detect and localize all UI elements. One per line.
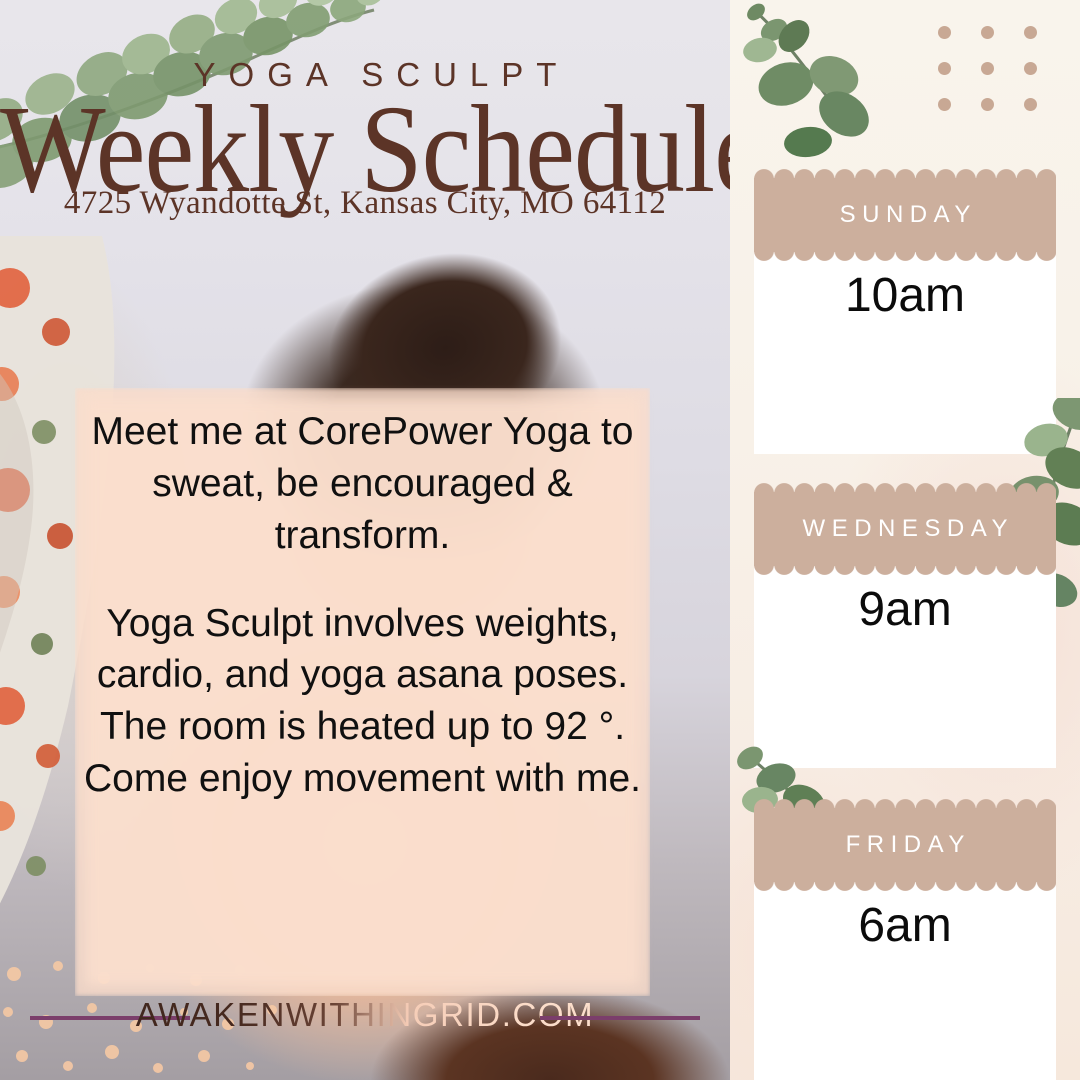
website-url[interactable]: AWAKENWITHINGRID.COM — [0, 996, 730, 1034]
card-time-value: 9am — [754, 582, 1056, 637]
card-time-value: 6am — [754, 898, 1056, 953]
scallop-edge-bottom — [754, 881, 1056, 896]
body-paragraph-1: Meet me at CorePower Yoga to sweat, be e… — [75, 406, 650, 562]
schedule-panel: SUNDAY 10am WEDNESDAY — [730, 0, 1080, 1080]
card-day-label: WEDNESDAY — [754, 492, 1056, 566]
schedule-card[interactable]: FRIDAY 6am — [754, 808, 1056, 1080]
card-body: 9am — [754, 566, 1056, 768]
studio-address: 4725 Wyandotte St, Kansas City, MO 64112 — [0, 185, 730, 222]
footer: AWAKENWITHINGRID.COM — [0, 996, 730, 1048]
poster-canvas: YOGA SCULPT Weekly Schedule 4725 Wyandot… — [0, 0, 1080, 1080]
paragraph-spacer — [75, 562, 650, 598]
card-header-banner: WEDNESDAY — [754, 492, 1056, 566]
overlay-body-text: Meet me at CorePower Yoga to sweat, be e… — [75, 406, 650, 805]
dot-grid-icon — [938, 26, 1038, 112]
card-day-label: SUNDAY — [754, 178, 1056, 252]
card-body: 6am — [754, 882, 1056, 1080]
scallop-edge-bottom — [754, 251, 1056, 266]
schedule-card[interactable]: WEDNESDAY 9am — [754, 492, 1056, 768]
card-day-label: FRIDAY — [754, 808, 1056, 882]
scallop-edge-top — [754, 478, 1056, 493]
body-paragraph-2: Yoga Sculpt involves weights, cardio, an… — [75, 598, 650, 805]
left-column: YOGA SCULPT Weekly Schedule 4725 Wyandot… — [0, 0, 730, 1080]
scallop-edge-bottom — [754, 565, 1056, 580]
footer-rule-right — [540, 1016, 700, 1020]
scallop-edge-top — [754, 794, 1056, 809]
card-header-banner: FRIDAY — [754, 808, 1056, 882]
scallop-edge-top — [754, 164, 1056, 179]
card-time-value: 10am — [754, 268, 1056, 323]
text-overlay-card: Meet me at CorePower Yoga to sweat, be e… — [75, 388, 650, 996]
card-header-banner: SUNDAY — [754, 178, 1056, 252]
